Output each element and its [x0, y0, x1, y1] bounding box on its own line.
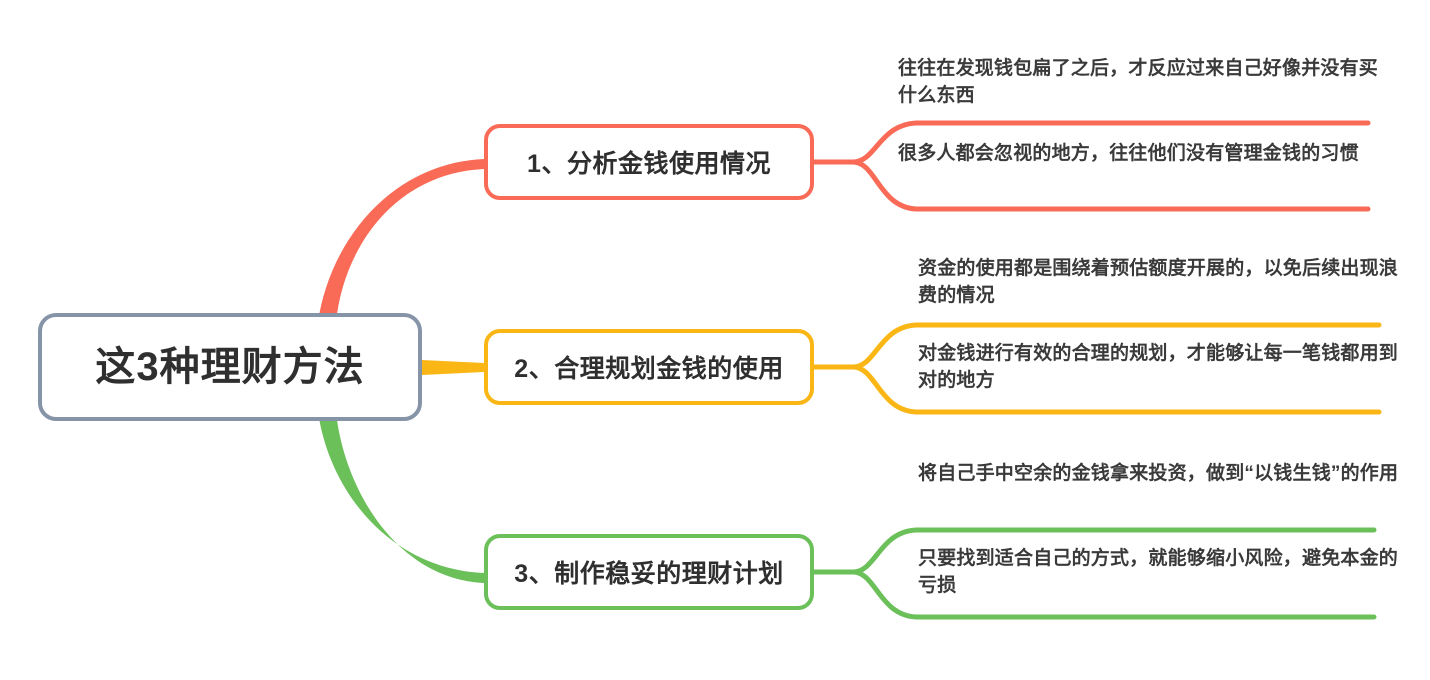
edge-root-to-branch-2 — [422, 360, 484, 375]
branch-node-3-label: 3、制作稳妥的理财计划 — [514, 554, 783, 590]
branch-node-1-label: 1、分析金钱使用情况 — [527, 144, 771, 180]
branch-node-3[interactable]: 3、制作稳妥的理财计划 — [484, 534, 814, 610]
mindmap-canvas: 这3种理财方法 1、分析金钱使用情况 2、合理规划金钱的使用 3、制作稳妥的理财… — [0, 0, 1430, 680]
leaf-node-2-2-text: 对金钱进行有效的合理的规划，才能够让每一笔钱都用到对的地方 — [918, 341, 1400, 395]
leaf-node-3-2-text: 只要找到适合自己的方式，就能够缩小风险，避免本金的亏损 — [918, 546, 1400, 600]
root-node[interactable]: 这3种理财方法 — [38, 313, 422, 421]
leaf-node-3-2[interactable]: 只要找到适合自己的方式，就能够缩小风险，避免本金的亏损 — [918, 546, 1400, 600]
leaf-node-1-2[interactable]: 很多人都会忽视的地方，往往他们没有管理金钱的习惯 — [898, 141, 1380, 168]
leaf-node-2-2[interactable]: 对金钱进行有效的合理的规划，才能够让每一笔钱都用到对的地方 — [918, 341, 1400, 395]
leaf-node-2-1[interactable]: 资金的使用都是围绕着预估额度开展的，以免后续出现浪费的情况 — [918, 256, 1400, 310]
leaf-node-3-1[interactable]: 将自己手中空余的金钱拿来投资，做到“以钱生钱”的作用 — [918, 461, 1400, 488]
leaf-node-3-1-text: 将自己手中空余的金钱拿来投资，做到“以钱生钱”的作用 — [918, 461, 1400, 488]
leaf-node-2-1-text: 资金的使用都是围绕着预估额度开展的，以免后续出现浪费的情况 — [918, 256, 1400, 310]
edge-root-to-branch-1 — [318, 159, 484, 322]
leaf-node-1-2-text: 很多人都会忽视的地方，往往他们没有管理金钱的习惯 — [898, 141, 1380, 168]
branch-node-1[interactable]: 1、分析金钱使用情况 — [484, 124, 814, 200]
edge-root-to-branch-3 — [318, 412, 484, 583]
root-node-label: 这3种理财方法 — [95, 345, 364, 389]
branch-node-2[interactable]: 2、合理规划金钱的使用 — [484, 329, 814, 405]
leaf-node-1-1-text: 往往在发现钱包扁了之后，才反应过来自己好像并没有买什么东西 — [898, 56, 1380, 110]
leaf-node-1-1[interactable]: 往往在发现钱包扁了之后，才反应过来自己好像并没有买什么东西 — [898, 56, 1380, 110]
branch-node-2-label: 2、合理规划金钱的使用 — [514, 349, 783, 385]
